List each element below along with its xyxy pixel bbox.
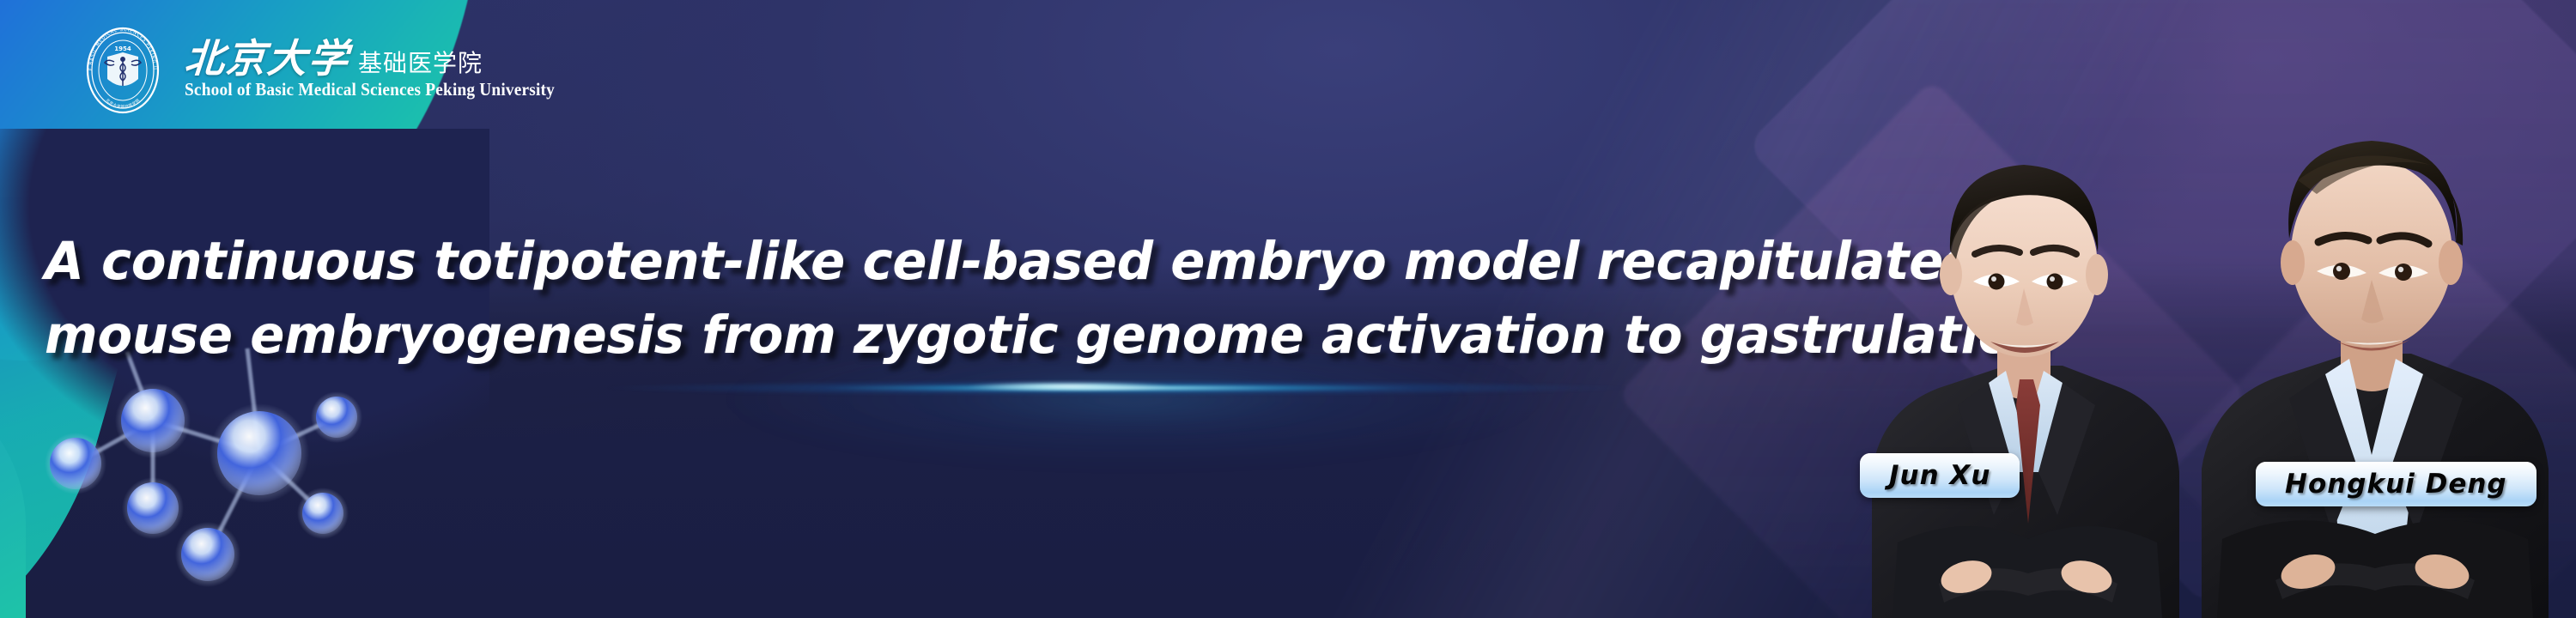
logo-text-block: 北京大学 基础医学院 School of Basic Medical Scien… [185, 37, 586, 100]
name-badge-hongkui-deng: Hongkui Deng [2256, 462, 2537, 506]
svg-text:1954: 1954 [114, 45, 131, 52]
logo-chinese-main: 北京大学 [183, 39, 350, 78]
light-flare-core [962, 379, 1176, 393]
page-title: A continuous totipotent-like cell-based … [45, 225, 1810, 373]
university-logo-lockup: SCHOOL OF BASIC MEDICAL SCIENCES PEKING … [82, 22, 586, 115]
svg-text:北京大学基础医学院: 北京大学基础医学院 [105, 97, 142, 110]
title-line-2: mouse embryogenesis from zygotic genome … [45, 299, 1810, 373]
molecule-graphic [17, 343, 378, 618]
name-badge-jun-xu: Jun Xu [1860, 453, 2020, 498]
portrait-hongkui-deng [2172, 51, 2576, 618]
portrait-jun-xu [1838, 69, 2207, 618]
logo-chinese-row: 北京大学 基础医学院 [185, 39, 586, 78]
university-seal-icon: SCHOOL OF BASIC MEDICAL SCIENCES PEKING … [82, 22, 164, 115]
logo-chinese-sub: 基础医学院 [358, 51, 483, 78]
logo-english-name: School of Basic Medical Sciences Peking … [185, 80, 555, 100]
title-line-1: A continuous totipotent-like cell-based … [45, 225, 1810, 299]
research-highlight-banner: SCHOOL OF BASIC MEDICAL SCIENCES PEKING … [0, 0, 2576, 618]
